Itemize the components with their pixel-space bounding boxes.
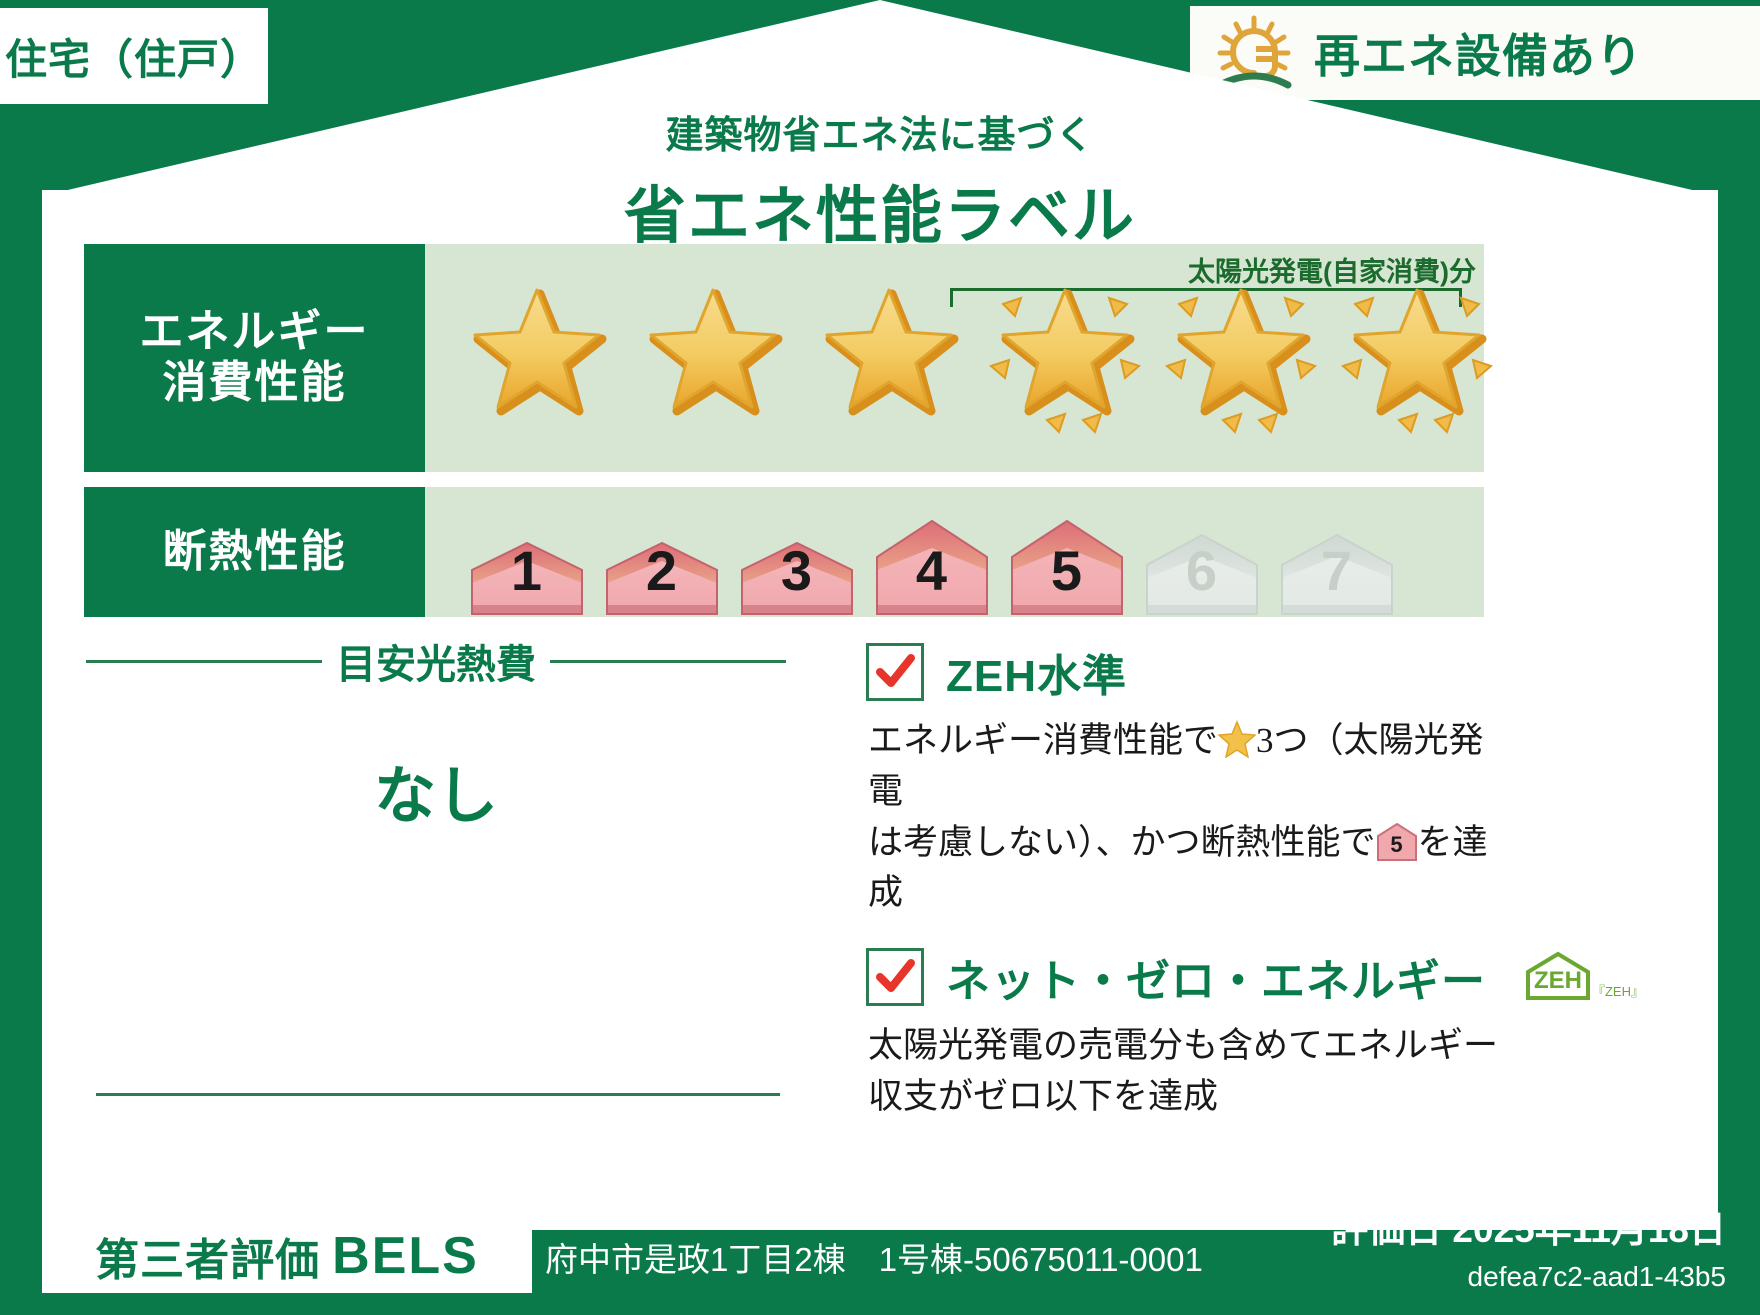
zeh-desc-part3: は考慮しない）、かつ断熱性能で <box>868 823 1376 862</box>
insulation-grade-number: 5 <box>1001 538 1132 603</box>
evaluation-date: 評価日 2025年11月18日 <box>1331 1199 1726 1253</box>
insulation-grade-number: 7 <box>1271 538 1402 603</box>
net-zero-energy-checkbox[interactable] <box>866 948 924 1006</box>
bels-label-root: 住宅（住戸） <box>0 0 1760 1315</box>
bels-footer-badge: 第三者評価 BELS <box>42 1219 532 1293</box>
nze-desc-line2: 収支がゼロ以下を達成 <box>868 1077 1218 1116</box>
zeh-standard-claim-header: ZEH水準 <box>866 640 1506 704</box>
star-rating <box>425 244 1484 472</box>
star-icon <box>453 270 621 446</box>
star-icon <box>629 270 797 446</box>
insulation-grade-2: 2 <box>596 539 727 617</box>
page-title: 省エネ性能ラベル <box>0 165 1760 255</box>
net-zero-energy-title: ネット・ゼロ・エネルギー <box>946 945 1486 1009</box>
star-icon-solar <box>981 270 1149 446</box>
title-subtitle: 建築物省エネ法に基づく <box>0 104 1760 159</box>
cost-rule-right <box>550 660 786 663</box>
utility-cost-heading: 目安光熱費 <box>86 638 786 684</box>
insulation-performance-label: 断熱性能 <box>84 487 425 617</box>
building-type-badge: 住宅（住戸） <box>0 8 268 104</box>
renewable-equipment-badge: 再エネ設備あり <box>1190 6 1760 100</box>
certification-claims: ZEH水準 エネルギー消費性能で3つ（太陽光発電 は考慮しない）、かつ断熱性能で… <box>866 640 1506 1149</box>
insulation-grades-area: 1 2 <box>425 487 1484 617</box>
insulation-grade-4: 4 <box>866 517 997 617</box>
insulation-grade-6: 6 <box>1136 531 1267 617</box>
insulation-grade-number: 3 <box>731 538 862 603</box>
insulation-grade-5: 5 <box>1001 517 1132 617</box>
insulation-grade-1: 1 <box>461 539 592 617</box>
building-type-label: 住宅（住戸） <box>5 26 263 87</box>
svg-text:『ZEH』: 『ZEH』 <box>1592 984 1644 999</box>
property-address: 府中市是政1丁目2棟 1号棟-50675011-0001 <box>545 1233 1203 1281</box>
inline-house-grade-number: 5 <box>1376 829 1418 861</box>
certificate-uid: defea7c2-aad1-43b5 <box>1468 1261 1726 1293</box>
third-party-eval-label: 第三者評価 <box>95 1224 320 1288</box>
title-block: 建築物省エネ法に基づく 省エネ性能ラベル <box>0 104 1760 255</box>
inline-star-icon <box>1218 720 1256 758</box>
energy-label-line2: 消費性能 <box>163 358 347 409</box>
zeh-standard-checkbox[interactable] <box>866 643 924 701</box>
zeh-logo-icon: ZEH 『ZEH』 <box>1518 950 1646 1004</box>
insulation-grade-number: 4 <box>866 538 997 603</box>
sun-plug-icon <box>1212 15 1296 91</box>
zeh-standard-title: ZEH水準 <box>946 640 1127 704</box>
insulation-label-text: 断熱性能 <box>163 527 347 578</box>
zeh-standard-description: エネルギー消費性能で3つ（太陽光発電 は考慮しない）、かつ断熱性能で5を達成 <box>868 716 1506 919</box>
insulation-performance-row: 断熱性能 1 <box>84 487 1484 617</box>
cost-heading-text: 目安光熱費 <box>336 632 536 690</box>
inline-house-grade-icon: 5 <box>1376 822 1418 862</box>
net-zero-energy-description: 太陽光発電の売電分も含めてエネルギー 収支がゼロ以下を達成 <box>868 1021 1506 1123</box>
star-icon <box>805 270 973 446</box>
insulation-grade-number: 1 <box>461 538 592 603</box>
insulation-grade-scale: 1 2 <box>425 487 1484 617</box>
star-icon-solar <box>1333 270 1501 446</box>
bels-logo-text: BELS <box>332 1226 479 1286</box>
svg-text:ZEH: ZEH <box>1534 967 1582 994</box>
cost-rule-left <box>86 660 322 663</box>
renewable-badge-label: 再エネ設備あり <box>1314 20 1643 86</box>
cost-bottom-rule <box>96 1093 780 1096</box>
nze-desc-line1: 太陽光発電の売電分も含めてエネルギー <box>868 1026 1498 1065</box>
utility-cost-value: なし <box>86 745 786 835</box>
net-zero-energy-claim-header: ネット・ゼロ・エネルギー ZEH 『ZEH』 <box>866 945 1506 1009</box>
star-icon-solar <box>1157 270 1325 446</box>
insulation-grade-number: 2 <box>596 538 727 603</box>
energy-label-line1: エネルギー <box>140 307 370 358</box>
insulation-grade-3: 3 <box>731 539 862 617</box>
insulation-grade-7: 7 <box>1271 531 1402 617</box>
energy-performance-label: エネルギー 消費性能 <box>84 244 425 472</box>
energy-performance-row: エネルギー 消費性能 太陽光発電(自家消費)分 <box>84 244 1484 472</box>
zeh-desc-part1: エネルギー消費性能で <box>868 721 1218 760</box>
energy-stars-area: 太陽光発電(自家消費)分 <box>425 244 1484 472</box>
insulation-grade-number: 6 <box>1136 538 1267 603</box>
